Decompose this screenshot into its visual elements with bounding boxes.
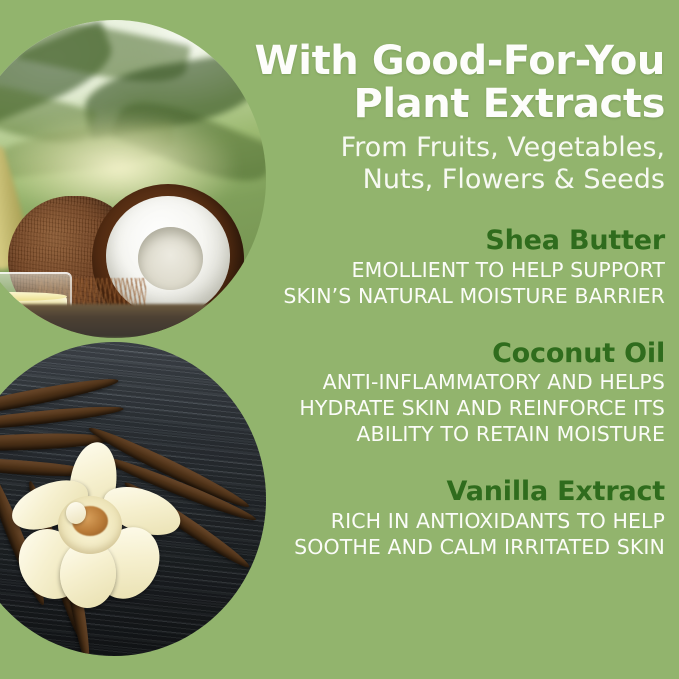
- coconut-photo: [0, 20, 266, 338]
- headline-line-1: With Good-For-You: [255, 38, 665, 84]
- photo-column: [0, 0, 272, 679]
- ingredient-description-line: ANTI-INFLAMMATORY AND HELPS: [245, 370, 665, 396]
- ingredient-description: EMOLLIENT TO HELP SUPPORT SKIN’S NATURAL…: [245, 258, 665, 310]
- subhead-line-1: From Fruits, Vegetables,: [341, 132, 665, 163]
- subhead-line-2: Nuts, Flowers & Seeds: [363, 164, 665, 195]
- ingredient-name: Coconut Oil: [245, 338, 665, 370]
- ingredient-name: Vanilla Extract: [245, 476, 665, 508]
- ingredient-description: ANTI-INFLAMMATORY AND HELPS HYDRATE SKIN…: [245, 370, 665, 447]
- ingredient-description-line: RICH IN ANTIOXIDANTS TO HELP: [245, 509, 665, 535]
- flower-column: [66, 502, 86, 524]
- ingredient-description-line: ABILITY TO RETAIN MOISTURE: [245, 422, 665, 448]
- ingredient-coconut-oil: Coconut Oil ANTI-INFLAMMATORY AND HELPS …: [245, 338, 665, 448]
- vanilla-photo: [0, 342, 266, 656]
- ingredient-name: Shea Butter: [245, 225, 665, 257]
- coconut-cavity: [138, 227, 202, 289]
- vanilla-orchid-flower: [14, 448, 178, 604]
- ingredient-description-line: SOOTHE AND CALM IRRITATED SKIN: [245, 535, 665, 561]
- page-subtitle: From Fruits, Vegetables, Nuts, Flowers &…: [245, 132, 665, 195]
- ingredient-description-line: HYDRATE SKIN AND REINFORCE ITS: [245, 396, 665, 422]
- ingredient-vanilla-extract: Vanilla Extract RICH IN ANTIOXIDANTS TO …: [245, 476, 665, 561]
- ingredient-description: RICH IN ANTIOXIDANTS TO HELP SOOTHE AND …: [245, 509, 665, 561]
- text-column: With Good-For-You Plant Extracts From Fr…: [245, 0, 665, 679]
- table-surface: [0, 304, 266, 338]
- plant-extracts-infographic: With Good-For-You Plant Extracts From Fr…: [0, 0, 679, 679]
- ingredient-shea-butter: Shea Butter EMOLLIENT TO HELP SUPPORT SK…: [245, 225, 665, 310]
- headline-line-2: Plant Extracts: [353, 81, 665, 127]
- ingredient-description-line: EMOLLIENT TO HELP SUPPORT: [245, 258, 665, 284]
- page-title: With Good-For-You Plant Extracts: [245, 0, 665, 126]
- ingredient-description-line: SKIN’S NATURAL MOISTURE BARRIER: [245, 284, 665, 310]
